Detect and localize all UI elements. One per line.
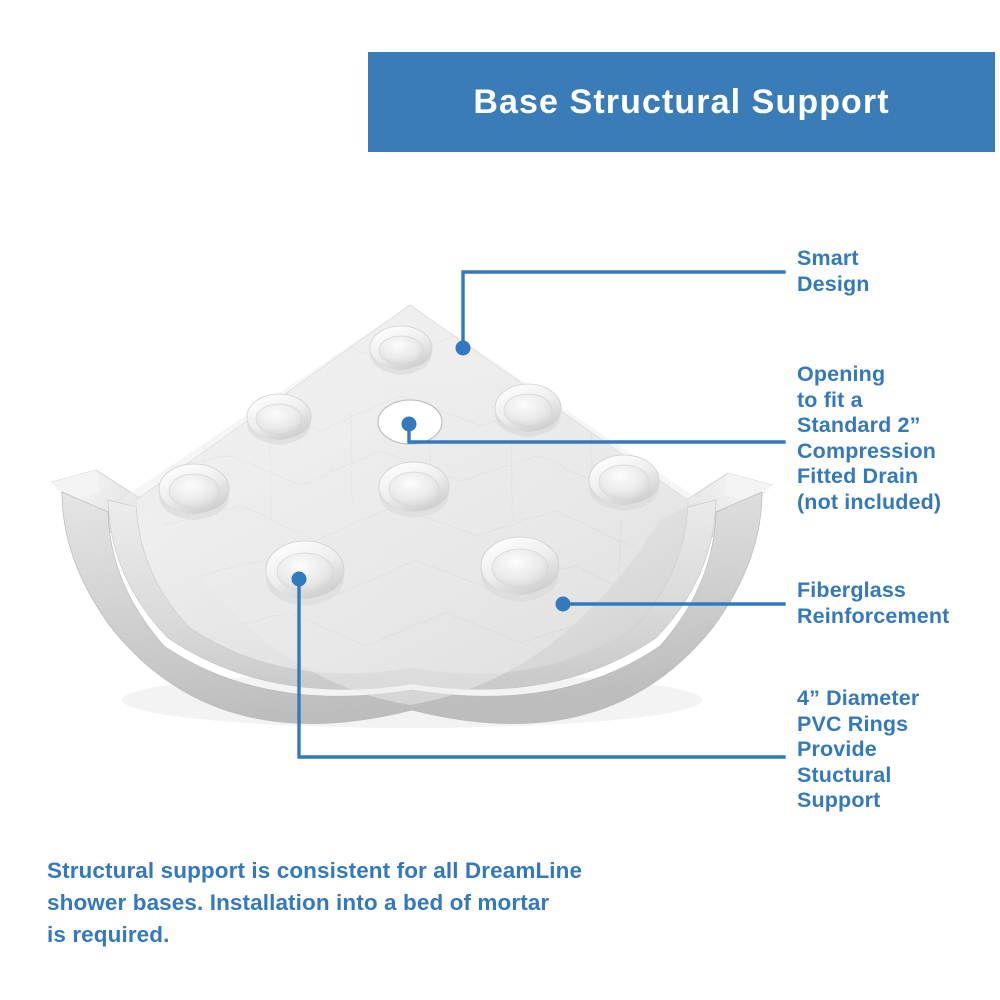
leader-line-opening-drain [409,424,784,442]
pvc-ring [247,394,311,445]
callout-anchor-dots [292,341,571,612]
pvc-ring [379,462,449,518]
deck-texture [100,290,720,710]
anchor-dot-smart-design [456,341,471,356]
pvc-ring [495,384,561,437]
leader-line-pvc-rings [299,579,784,757]
leader-line-smart-design [463,272,784,348]
base-top-deck [136,305,688,674]
header-banner: Base Structural Support [368,52,995,152]
pvc-ring [370,326,432,375]
page-title: Base Structural Support [473,85,889,119]
callout-label-opening-drain: Opening to fit a Standard 2” Compression… [797,362,1000,515]
callout-label-fiberglass-reinforcement: Fiberglass Reinforcement [797,578,1000,629]
base-inner-step-band [108,500,716,689]
pvc-ring-group [159,326,659,606]
infographic-page: Base Structural Support [0,0,1000,1000]
pvc-ring [266,541,344,606]
base-outer-apron [62,492,762,724]
anchor-dot-opening-drain [402,417,417,432]
footer-caption: Structural support is consistent for all… [47,855,687,951]
base-drop-shadow [122,672,702,728]
anchor-dot-fiberglass [556,597,571,612]
left-flange-wing [52,470,205,566]
right-flange-wing [620,473,772,568]
callout-leader-lines [299,272,784,757]
pvc-ring [481,537,559,602]
pvc-ring [589,455,659,511]
pvc-ring [159,464,229,520]
callout-label-smart-design: Smart Design [797,246,997,297]
right-flange-tip [724,473,772,503]
callout-label-pvc-rings: 4” Diameter PVC Rings Provide Stuctural … [797,686,997,814]
anchor-dot-pvc-rings [292,572,307,587]
drain-opening [378,400,442,444]
left-flange-tip [52,470,100,500]
